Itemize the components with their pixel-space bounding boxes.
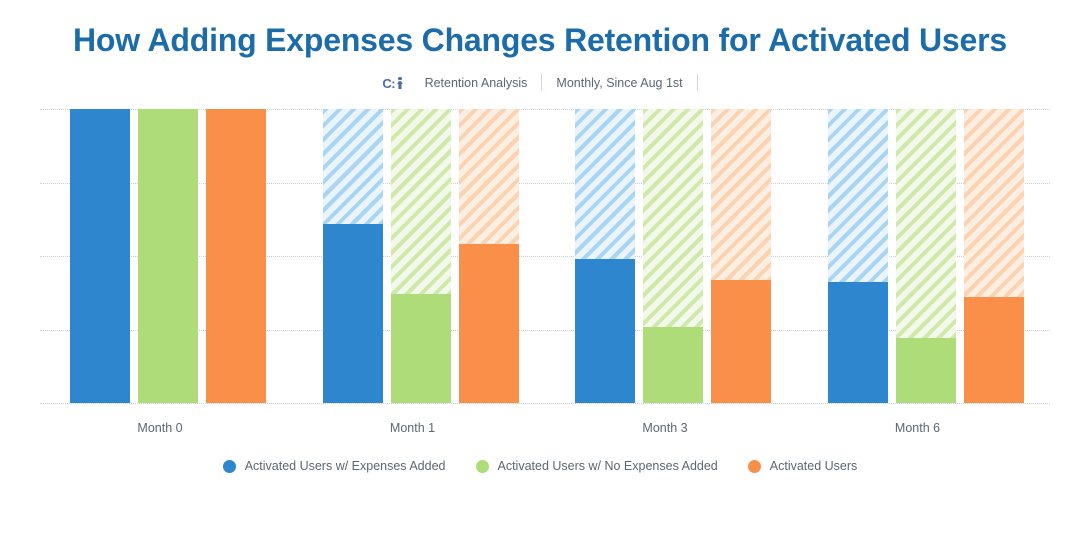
subtitle-divider (697, 74, 698, 91)
bar-solid (643, 327, 703, 403)
bar-group (40, 109, 293, 403)
legend-label: Activated Users w/ No Expenses Added (498, 459, 718, 473)
legend-color-swatch-icon (223, 460, 236, 473)
report-period: Monthly, Since Aug 1st (542, 76, 696, 90)
bar-column[interactable] (323, 109, 383, 403)
bar-column[interactable] (206, 109, 266, 403)
bar-column[interactable] (575, 109, 635, 403)
bar-column[interactable] (391, 109, 451, 403)
bar-group (293, 109, 546, 403)
bar-solid (575, 259, 635, 403)
chartio-logo-icon: C: (382, 76, 403, 90)
report-name: Retention Analysis (411, 76, 542, 90)
legend-item[interactable]: Activated Users (748, 459, 858, 473)
chart-page: How Adding Expenses Changes Retention fo… (0, 0, 1080, 543)
plot-region (40, 109, 1050, 404)
bar-solid (391, 294, 451, 403)
bar-column[interactable] (964, 109, 1024, 403)
page-title: How Adding Expenses Changes Retention fo… (0, 0, 1080, 60)
bar-solid (711, 280, 771, 403)
x-axis-tick-label: Month 1 (293, 409, 546, 435)
bar-column[interactable] (711, 109, 771, 403)
bar-column[interactable] (643, 109, 703, 403)
chart-legend: Activated Users w/ Expenses AddedActivat… (0, 459, 1080, 473)
bar-solid (70, 109, 130, 403)
bar-solid (828, 282, 888, 403)
x-axis-tick-label: Month 0 (40, 409, 293, 435)
x-axis-tick-label: Month 3 (545, 409, 798, 435)
legend-label: Activated Users w/ Expenses Added (245, 459, 446, 473)
gridline (40, 403, 1050, 404)
bar-solid (138, 109, 198, 403)
x-axis: Month 0Month 1Month 3Month 6 (40, 409, 1050, 435)
bar-column[interactable] (896, 109, 956, 403)
bar-groups (40, 109, 1050, 403)
bar-solid (323, 224, 383, 403)
bar-solid (459, 244, 519, 403)
chart-subtitle-bar: C: Retention Analysis Monthly, Since Aug… (0, 74, 1080, 91)
bar-column[interactable] (70, 109, 130, 403)
legend-color-swatch-icon (748, 460, 761, 473)
bar-solid (964, 297, 1024, 403)
bar-column[interactable] (459, 109, 519, 403)
bar-column[interactable] (138, 109, 198, 403)
legend-label: Activated Users (770, 459, 858, 473)
legend-item[interactable]: Activated Users w/ Expenses Added (223, 459, 446, 473)
x-axis-tick-label: Month 6 (798, 409, 1051, 435)
legend-color-swatch-icon (476, 460, 489, 473)
chart-area (40, 109, 1050, 409)
bar-column[interactable] (828, 109, 888, 403)
bar-group (798, 109, 1051, 403)
legend-item[interactable]: Activated Users w/ No Expenses Added (476, 459, 718, 473)
bar-group (545, 109, 798, 403)
bar-solid (206, 109, 266, 403)
bar-solid (896, 338, 956, 403)
